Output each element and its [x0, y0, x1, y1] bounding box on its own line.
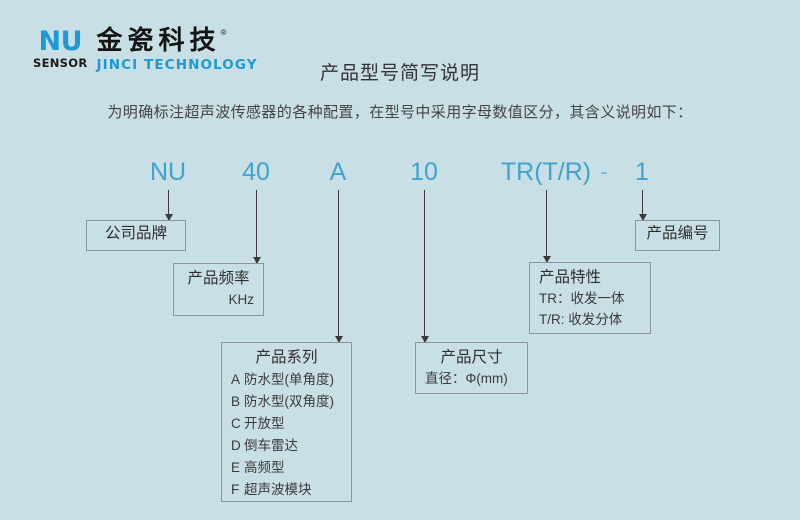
model-token-series: A	[330, 155, 347, 189]
model-token-size: 10	[410, 155, 438, 189]
serial-connector-arrow	[642, 190, 643, 220]
callout-unit-frequency: KHz	[183, 290, 254, 310]
callout-title-brand: 公司品牌	[105, 223, 167, 245]
series-connector-arrow	[338, 190, 339, 342]
callout-detail-feature-t-r: T/R: 收发分体	[539, 310, 641, 330]
logo-company-cn-wrap: 金瓷科技 ®	[96, 28, 257, 54]
callout-title-feature: 产品特性	[539, 267, 641, 289]
registered-trademark-icon: ®	[221, 29, 227, 37]
frequency-connector-arrow	[256, 190, 257, 263]
series-option-a: A防水型(单角度)	[231, 369, 342, 391]
model-number-diagram-page: NU SENSOR 金瓷科技 ® JINCI TECHNOLOGY 产品型号简写…	[0, 0, 800, 520]
model-token-feature: TR(T/R)	[501, 155, 591, 189]
series-label-c: 开放型	[244, 416, 285, 431]
callout-box-frequency: 产品频率 KHz	[173, 263, 264, 316]
page-title: 产品型号简写说明	[0, 58, 800, 85]
series-code-a: A	[231, 369, 244, 391]
series-code-d: D	[231, 435, 244, 457]
model-token-frequency: 40	[242, 155, 270, 189]
series-option-d: D倒车雷达	[231, 435, 342, 457]
page-subtitle: 为明确标注超声波传感器的各种配置，在型号中采用字母数值区分，其含义说明如下：	[0, 101, 800, 122]
series-code-e: E	[231, 457, 244, 479]
callout-box-serial: 产品编号	[635, 220, 720, 251]
feature-connector-arrow	[546, 190, 547, 262]
series-option-f: F超声波模块	[231, 479, 342, 501]
series-option-b: B防水型(双角度)	[231, 391, 342, 413]
callout-detail-size: 直径：Φ(mm)	[425, 369, 518, 389]
callout-box-brand: 公司品牌	[86, 220, 186, 251]
model-number-row: NU 40 A 10 TR(T/R) - 1	[0, 155, 800, 191]
series-code-f: F	[231, 479, 244, 501]
brand-connector-arrow	[168, 190, 169, 220]
callout-title-serial: 产品编号	[646, 223, 708, 245]
model-token-dash: -	[600, 155, 607, 189]
callout-box-feature: 产品特性 TR：收发一体 T/R: 收发分体	[529, 262, 651, 334]
model-token-brand: NU	[150, 155, 186, 189]
series-label-b: 防水型(双角度)	[244, 394, 334, 409]
model-token-serial: 1	[635, 155, 649, 189]
series-label-d: 倒车雷达	[244, 438, 298, 453]
series-option-e: E高频型	[231, 457, 342, 479]
series-option-list: A防水型(单角度) B防水型(双角度) C开放型 D倒车雷达 E高频型 F超声波…	[231, 369, 342, 500]
callout-box-series: 产品系列 A防水型(单角度) B防水型(双角度) C开放型 D倒车雷达 E高频型…	[221, 342, 352, 502]
logo-mark-text: NU	[38, 28, 82, 55]
callout-detail-feature-tr: TR：收发一体	[539, 289, 641, 309]
series-label-a: 防水型(单角度)	[244, 372, 334, 387]
series-option-c: C开放型	[231, 413, 342, 435]
series-label-e: 高频型	[244, 460, 285, 475]
callout-title-frequency: 产品频率	[183, 268, 254, 290]
series-code-b: B	[231, 391, 244, 413]
logo-company-cn: 金瓷科技	[96, 28, 220, 54]
callout-title-series: 产品系列	[231, 347, 342, 369]
series-code-c: C	[231, 413, 244, 435]
callout-box-size: 产品尺寸 直径：Φ(mm)	[415, 342, 528, 394]
size-connector-arrow	[424, 190, 425, 342]
callout-title-size: 产品尺寸	[425, 347, 518, 369]
series-label-f: 超声波模块	[244, 482, 312, 497]
